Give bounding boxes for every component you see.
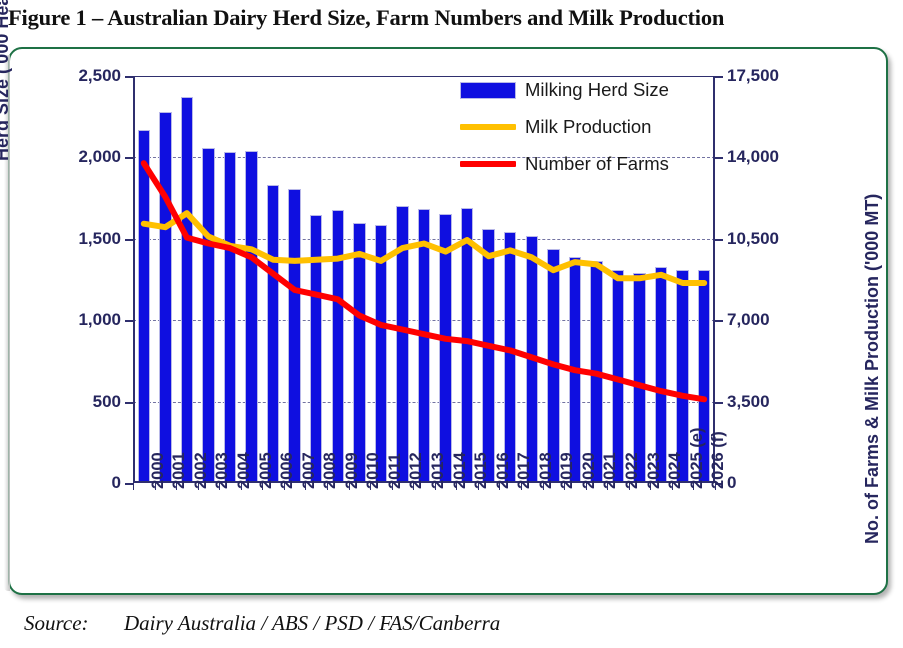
x-tick-label: 2013 (430, 452, 447, 489)
x-tick-label: 2020 (581, 452, 598, 489)
x-tick-label: 2025 (e) (689, 428, 706, 489)
x-tick-label: 2018 (538, 452, 555, 489)
x-tick-label: 2009 (344, 452, 361, 489)
y-tickmark-right (715, 239, 723, 241)
x-tick-label: 2006 (279, 452, 296, 489)
y-tickmark-left (125, 76, 133, 78)
legend-label: Milking Herd Size (525, 79, 669, 101)
legend-label: Milk Production (525, 116, 651, 138)
y-tickmark-left (125, 402, 133, 404)
legend-item[interactable]: Milking Herd Size (460, 75, 669, 105)
x-tick-label: 2000 (150, 452, 167, 489)
y-tick-label-left: 1,500 (10, 230, 121, 247)
source-line: Source: Dairy Australia / ABS / PSD / FA… (24, 608, 500, 638)
y-tickmark-right (715, 402, 723, 404)
x-tick-label: 2005 (258, 452, 275, 489)
x-tick-label: 2003 (214, 452, 231, 489)
x-tick-label: 2015 (473, 452, 490, 489)
y-tickmark-right (715, 320, 723, 322)
y-tick-label-left: 1,000 (10, 311, 121, 328)
x-tick-label: 2002 (193, 452, 210, 489)
y-tick-label-right: 7,000 (727, 311, 770, 328)
y-tick-label-left: 2,500 (10, 67, 121, 84)
x-axis-labels: 2000200120022003200420052006200720082009… (133, 485, 715, 585)
x-tick-label: 2010 (365, 452, 382, 489)
x-tick-label: 2007 (301, 452, 318, 489)
x-tick-label: 2026 (f) (710, 431, 727, 489)
x-tick-label: 2012 (408, 452, 425, 489)
y-tickmark-right (715, 157, 723, 159)
source-text: Dairy Australia / ABS / PSD / FAS/Canber… (124, 611, 500, 636)
x-tick-label: 2017 (516, 452, 533, 489)
legend-item[interactable]: Number of Farms (460, 149, 669, 179)
x-tick-label: 2014 (452, 452, 469, 489)
legend-swatch-line-icon (460, 161, 516, 167)
y-tick-label-left: 0 (10, 474, 121, 491)
x-tick-label: 2021 (602, 452, 619, 489)
y-tickmark-left (125, 483, 133, 485)
legend-swatch-bar-icon (460, 82, 516, 99)
y-tick-label-right: 0 (727, 474, 736, 491)
y-tickmark-left (125, 157, 133, 159)
y-tick-label-left: 2,000 (10, 148, 121, 165)
y-tick-label-right: 10,500 (727, 230, 779, 247)
x-tick-label: 2001 (171, 452, 188, 489)
y-tick-label-right: 17,500 (727, 67, 779, 84)
y-tickmark-left (125, 239, 133, 241)
legend-label: Number of Farms (525, 153, 669, 175)
x-tick-label: 2023 (646, 452, 663, 489)
x-tick-label: 2008 (322, 452, 339, 489)
legend-item[interactable]: Milk Production (460, 112, 651, 142)
x-tick-label: 2019 (559, 452, 576, 489)
x-tick-label: 2022 (624, 452, 641, 489)
x-tick-label: 2004 (236, 452, 253, 489)
source-label: Source: (24, 611, 124, 636)
chart-frame: Herd Size ('000 Head) No. of Farms & Mil… (8, 47, 888, 595)
y-tickmark-right (715, 76, 723, 78)
y-axis-right-title: No. of Farms & Milk Production ('000 MT) (862, 194, 883, 544)
x-tick-label: 2011 (387, 453, 404, 489)
x-tick-label: 2024 (667, 452, 684, 489)
y-tick-label-left: 500 (10, 393, 121, 410)
y-tick-label-right: 14,000 (727, 148, 779, 165)
legend-swatch-line-icon (460, 124, 516, 130)
figure-title: Figure 1 – Australian Dairy Herd Size, F… (8, 2, 898, 34)
chart-legend: Milking Herd SizeMilk ProductionNumber o… (460, 75, 710, 185)
y-tickmark-left (125, 320, 133, 322)
y-tick-label-right: 3,500 (727, 393, 770, 410)
x-tick-label: 2016 (495, 452, 512, 489)
